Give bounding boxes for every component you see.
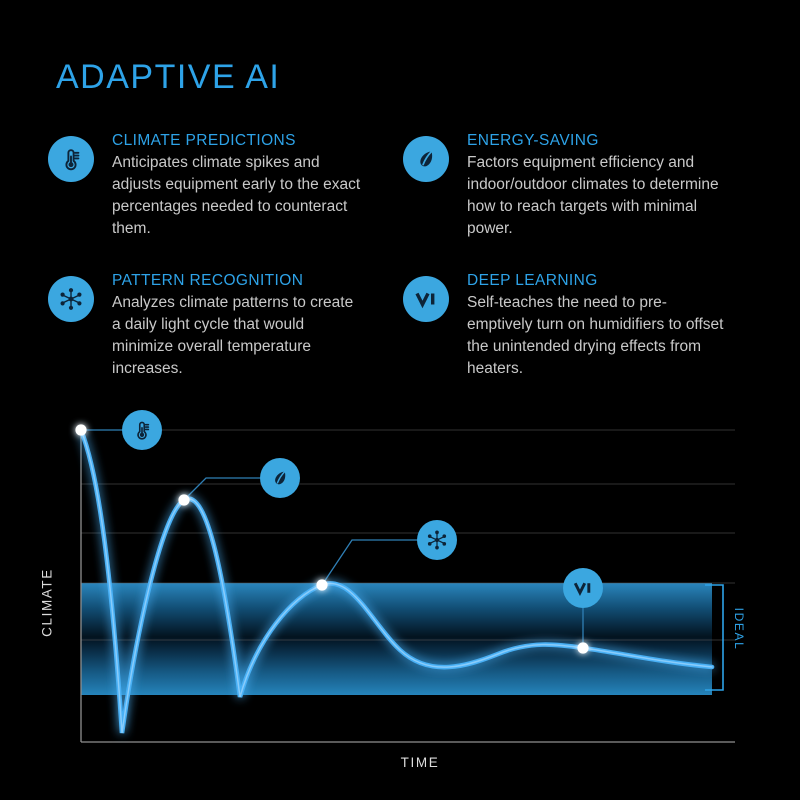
x-axis-label: TIME [0, 755, 800, 770]
feature-energy-saving[interactable]: ENERGY-SAVING Factors equipment efficien… [403, 130, 752, 270]
leaf-icon [403, 136, 449, 182]
feature-text: Factors equipment efficiency and indoor/… [467, 152, 727, 241]
feature-grid: CLIMATE PREDICTIONS Anticipates climate … [48, 130, 752, 410]
feature-text: Anticipates climate spikes and adjusts e… [112, 152, 364, 241]
feature-heading: ENERGY-SAVING [467, 132, 727, 150]
page-title: ADAPTIVE AI [56, 58, 280, 97]
chart-badge-deep-learning[interactable] [563, 568, 603, 608]
data-point [75, 424, 86, 435]
network-nodes-icon [424, 527, 450, 553]
ai-logo-icon [570, 575, 596, 601]
infographic-page: ADAPTIVE AI CLIMATE PREDICTIONS [0, 0, 800, 800]
thermometer-icon [130, 418, 154, 442]
feature-heading: CLIMATE PREDICTIONS [112, 132, 364, 150]
feature-climate-predictions[interactable]: CLIMATE PREDICTIONS Anticipates climate … [48, 130, 403, 270]
y-axis-label: CLIMATE [40, 548, 55, 658]
data-point [178, 494, 189, 505]
ideal-band [81, 583, 712, 695]
chart-badge-climate-predictions[interactable] [122, 410, 162, 450]
feature-body: CLIMATE PREDICTIONS Anticipates climate … [112, 130, 364, 241]
leaf-icon [268, 466, 292, 490]
network-nodes-icon [48, 276, 94, 322]
feature-body: ENERGY-SAVING Factors equipment efficien… [467, 130, 727, 241]
feature-text: Analyzes climate patterns to create a da… [112, 292, 364, 381]
climate-chart: CLIMATE TIME IDEAL [0, 400, 800, 800]
data-point [316, 579, 327, 590]
chart-canvas [0, 400, 800, 800]
ai-logo-icon [403, 276, 449, 322]
feature-pattern-recognition[interactable]: PATTERN RECOGNITION Analyzes climate pat… [48, 270, 403, 410]
feature-deep-learning[interactable]: DEEP LEARNING Self-teaches the need to p… [403, 270, 752, 410]
feature-body: PATTERN RECOGNITION Analyzes climate pat… [112, 270, 364, 381]
feature-heading: DEEP LEARNING [467, 272, 727, 290]
feature-text: Self-teaches the need to pre-emptively t… [467, 292, 727, 381]
feature-heading: PATTERN RECOGNITION [112, 272, 364, 290]
thermometer-icon [48, 136, 94, 182]
feature-body: DEEP LEARNING Self-teaches the need to p… [467, 270, 727, 381]
ideal-band-label: IDEAL [732, 574, 746, 684]
chart-badge-energy-saving[interactable] [260, 458, 300, 498]
chart-badge-pattern-recognition[interactable] [417, 520, 457, 560]
data-point [577, 642, 588, 653]
